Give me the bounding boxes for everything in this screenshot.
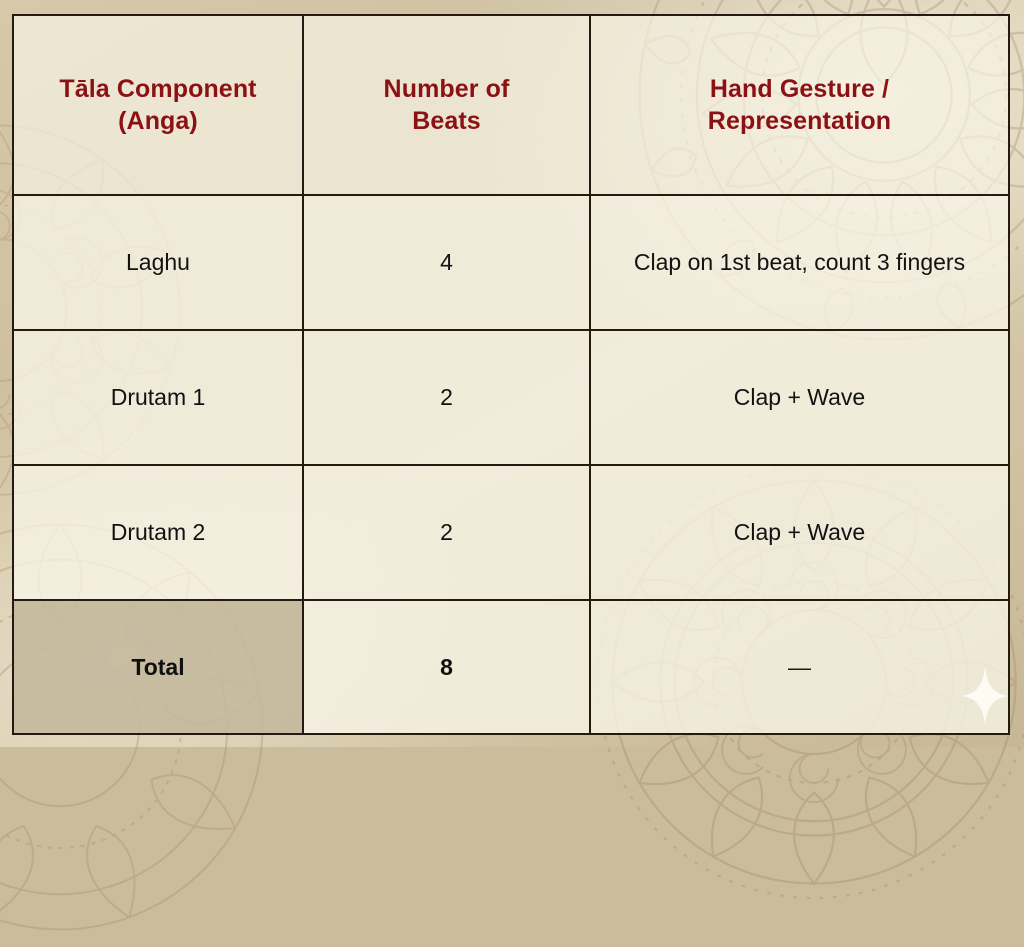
table-row: Drutam 2 2 Clap + Wave [13, 465, 1009, 600]
column-header-gesture-line1: Hand Gesture / [601, 73, 998, 105]
cell-component-text: Laghu [126, 249, 190, 275]
column-header-gesture-line2: Representation [601, 105, 998, 137]
column-header-gesture: Hand Gesture / Representation [590, 15, 1009, 195]
slide-canvas: Tāla Component (Anga) Number of Beats Ha… [0, 0, 1024, 747]
column-header-beats-line2: Beats [314, 105, 579, 137]
cell-component-text: Drutam 2 [111, 519, 206, 545]
cell-total-gesture-text: — [788, 654, 811, 680]
cell-component: Drutam 1 [13, 330, 303, 465]
cell-component: Drutam 2 [13, 465, 303, 600]
cell-total-label-text: Total [131, 654, 184, 680]
cell-gesture: Clap + Wave [590, 465, 1009, 600]
cell-beats: 4 [303, 195, 590, 330]
table-header-row: Tāla Component (Anga) Number of Beats Ha… [13, 15, 1009, 195]
table-row: Drutam 1 2 Clap + Wave [13, 330, 1009, 465]
cell-gesture-text: Clap on 1st beat, count 3 fingers [634, 249, 965, 275]
cell-total-beats: 8 [303, 600, 590, 734]
cell-component: Laghu [13, 195, 303, 330]
column-header-component-line2: (Anga) [24, 105, 292, 137]
cell-beats-text: 4 [440, 249, 453, 275]
cell-beats: 2 [303, 330, 590, 465]
cell-total-beats-text: 8 [440, 654, 453, 680]
table-total-row: Total 8 — [13, 600, 1009, 734]
column-header-beats: Number of Beats [303, 15, 590, 195]
table-body: Laghu 4 Clap on 1st beat, count 3 finger… [13, 195, 1009, 734]
cell-total-gesture: — [590, 600, 1009, 734]
cell-beats: 2 [303, 465, 590, 600]
tala-structure-table: Tāla Component (Anga) Number of Beats Ha… [12, 14, 1010, 735]
cell-beats-text: 2 [440, 384, 453, 410]
column-header-component-line1: Tāla Component [24, 73, 292, 105]
cell-gesture-text: Clap + Wave [734, 384, 865, 410]
cell-total-label: Total [13, 600, 303, 734]
cell-gesture-text: Clap + Wave [734, 519, 865, 545]
column-header-component: Tāla Component (Anga) [13, 15, 303, 195]
table-header: Tāla Component (Anga) Number of Beats Ha… [13, 15, 1009, 195]
table-row: Laghu 4 Clap on 1st beat, count 3 finger… [13, 195, 1009, 330]
cell-gesture: Clap on 1st beat, count 3 fingers [590, 195, 1009, 330]
column-header-beats-line1: Number of [314, 73, 579, 105]
cell-gesture: Clap + Wave [590, 330, 1009, 465]
cell-component-text: Drutam 1 [111, 384, 206, 410]
cell-beats-text: 2 [440, 519, 453, 545]
